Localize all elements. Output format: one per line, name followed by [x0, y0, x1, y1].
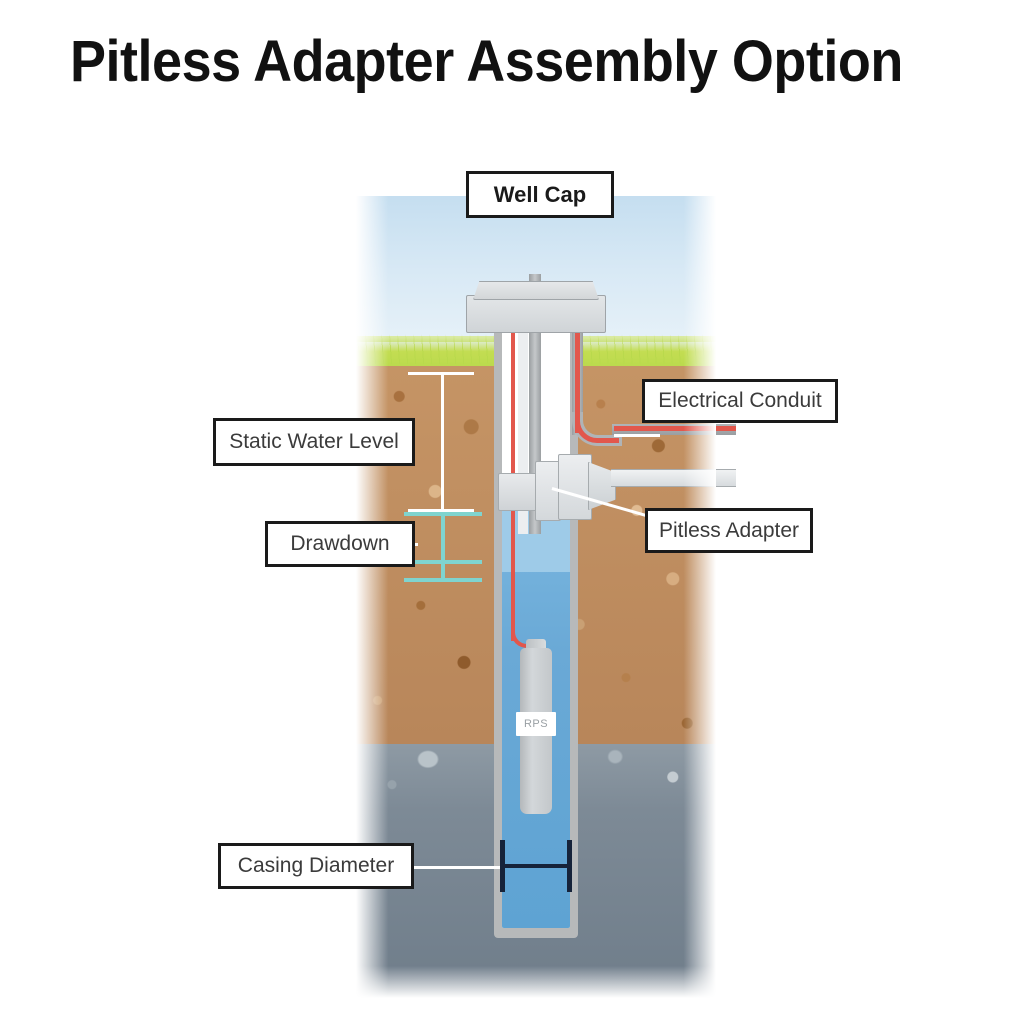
conduit-wire-horizontal: [614, 426, 736, 431]
casing-diameter-marker-bar: [500, 864, 572, 868]
label-pitless-adapter[interactable]: Pitless Adapter: [645, 508, 813, 553]
well-cap-lid: [473, 281, 599, 300]
discharge-pipe: [611, 469, 736, 487]
label-electrical-conduit[interactable]: Electrical Conduit: [642, 379, 838, 423]
label-casing-diameter[interactable]: Casing Diameter: [218, 843, 414, 889]
pitless-adapter-nose: [558, 454, 592, 520]
drawdown-marker-bottom: [404, 578, 482, 582]
label-drawdown[interactable]: Drawdown: [265, 521, 415, 567]
drawdown-marker-middle: [404, 560, 482, 564]
pump-brand-label: RPS: [516, 712, 556, 736]
page-title: Pitless Adapter Assembly Option: [70, 28, 903, 95]
label-static-water-level[interactable]: Static Water Level: [213, 418, 415, 466]
drawdown-marker-line: [441, 512, 445, 582]
static-water-level-marker-line: [441, 372, 444, 512]
label-well-cap[interactable]: Well Cap: [466, 171, 614, 218]
well-cap-body: [466, 295, 606, 333]
leader-line-electrical-conduit: [614, 434, 660, 437]
